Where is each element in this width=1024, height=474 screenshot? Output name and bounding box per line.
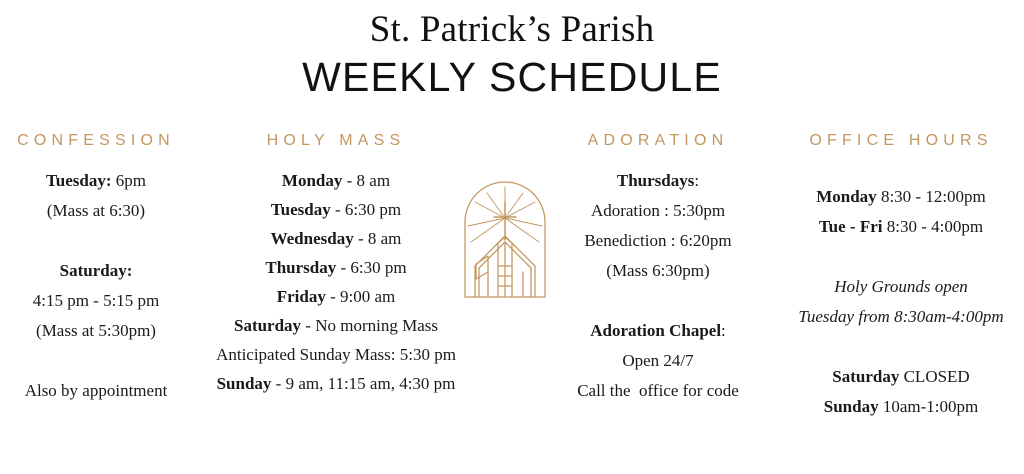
- spacer: [0, 226, 192, 256]
- list-item: Saturday CLOSED: [778, 362, 1024, 392]
- page-header: St. Patrick’s Parish WEEKLY SCHEDULE: [0, 0, 1024, 102]
- column-holy-mass: HOLY MASS Monday - 8 am Tuesday - 6:30 p…: [196, 132, 476, 398]
- list-item: Tuesday from 8:30am-4:00pm: [778, 302, 1024, 332]
- page-subtitle: WEEKLY SCHEDULE: [0, 52, 1024, 102]
- list-item: (Mass 6:30pm): [552, 256, 764, 286]
- column-adoration: ADORATION Thursdays: Adoration : 5:30pm …: [552, 132, 764, 406]
- column-confession: CONFESSION Tuesday: 6pm (Mass at 6:30) S…: [0, 132, 192, 406]
- column-heading-adoration: ADORATION: [552, 132, 764, 150]
- spacer: [778, 242, 1024, 272]
- list-item: Tue - Fri 8:30 - 4:00pm: [778, 212, 1024, 242]
- schedule-columns: CONFESSION Tuesday: 6pm (Mass at 6:30) S…: [0, 132, 1024, 474]
- list-item: Adoration Chapel:: [552, 316, 764, 346]
- page-title: St. Patrick’s Parish: [0, 6, 1024, 54]
- list-item: Sunday - 9 am, 11:15 am, 4:30 pm: [196, 369, 476, 398]
- list-item: Monday - 8 am: [196, 166, 476, 195]
- list-item: Open 24/7: [552, 346, 764, 376]
- spacer: [778, 332, 1024, 362]
- list-item: Friday - 9:00 am: [196, 282, 476, 311]
- list-item: Thursday - 6:30 pm: [196, 253, 476, 282]
- list-item: Anticipated Sunday Mass: 5:30 pm: [196, 340, 476, 369]
- list-item: Call the office for code: [552, 376, 764, 406]
- spacer: [0, 346, 192, 376]
- column-heading-office-hours: OFFICE HOURS: [778, 132, 1024, 150]
- column-heading-confession: CONFESSION: [0, 132, 192, 150]
- list-item: Monday 8:30 - 12:00pm: [778, 182, 1024, 212]
- list-item: Also by appointment: [0, 376, 192, 406]
- list-item: Wednesday - 8 am: [196, 224, 476, 253]
- list-item: (Mass at 6:30): [0, 196, 192, 226]
- office-hours-lines: Monday 8:30 - 12:00pm Tue - Fri 8:30 - 4…: [778, 166, 1024, 422]
- list-item: Holy Grounds open: [778, 272, 1024, 302]
- spacer: [552, 286, 764, 316]
- list-item: Saturday:: [0, 256, 192, 286]
- spacer: [778, 166, 1024, 182]
- column-heading-holy-mass: HOLY MASS: [196, 132, 476, 150]
- list-item: Benediction : 6:20pm: [552, 226, 764, 256]
- list-item: Tuesday - 6:30 pm: [196, 195, 476, 224]
- adoration-lines: Thursdays: Adoration : 5:30pm Benedictio…: [552, 166, 764, 406]
- list-item: 4:15 pm - 5:15 pm: [0, 286, 192, 316]
- column-office-hours: OFFICE HOURS Monday 8:30 - 12:00pm Tue -…: [778, 132, 1024, 422]
- list-item: Sunday 10am-1:00pm: [778, 392, 1024, 422]
- confession-lines: Tuesday: 6pm (Mass at 6:30) Saturday: 4:…: [0, 166, 192, 406]
- list-item: Adoration : 5:30pm: [552, 196, 764, 226]
- list-item: Thursdays:: [552, 166, 764, 196]
- list-item: Saturday - No morning Mass: [196, 311, 476, 340]
- list-item: Tuesday: 6pm: [0, 166, 192, 196]
- list-item: (Mass at 5:30pm): [0, 316, 192, 346]
- holy-mass-lines: Monday - 8 am Tuesday - 6:30 pm Wednesda…: [196, 166, 476, 398]
